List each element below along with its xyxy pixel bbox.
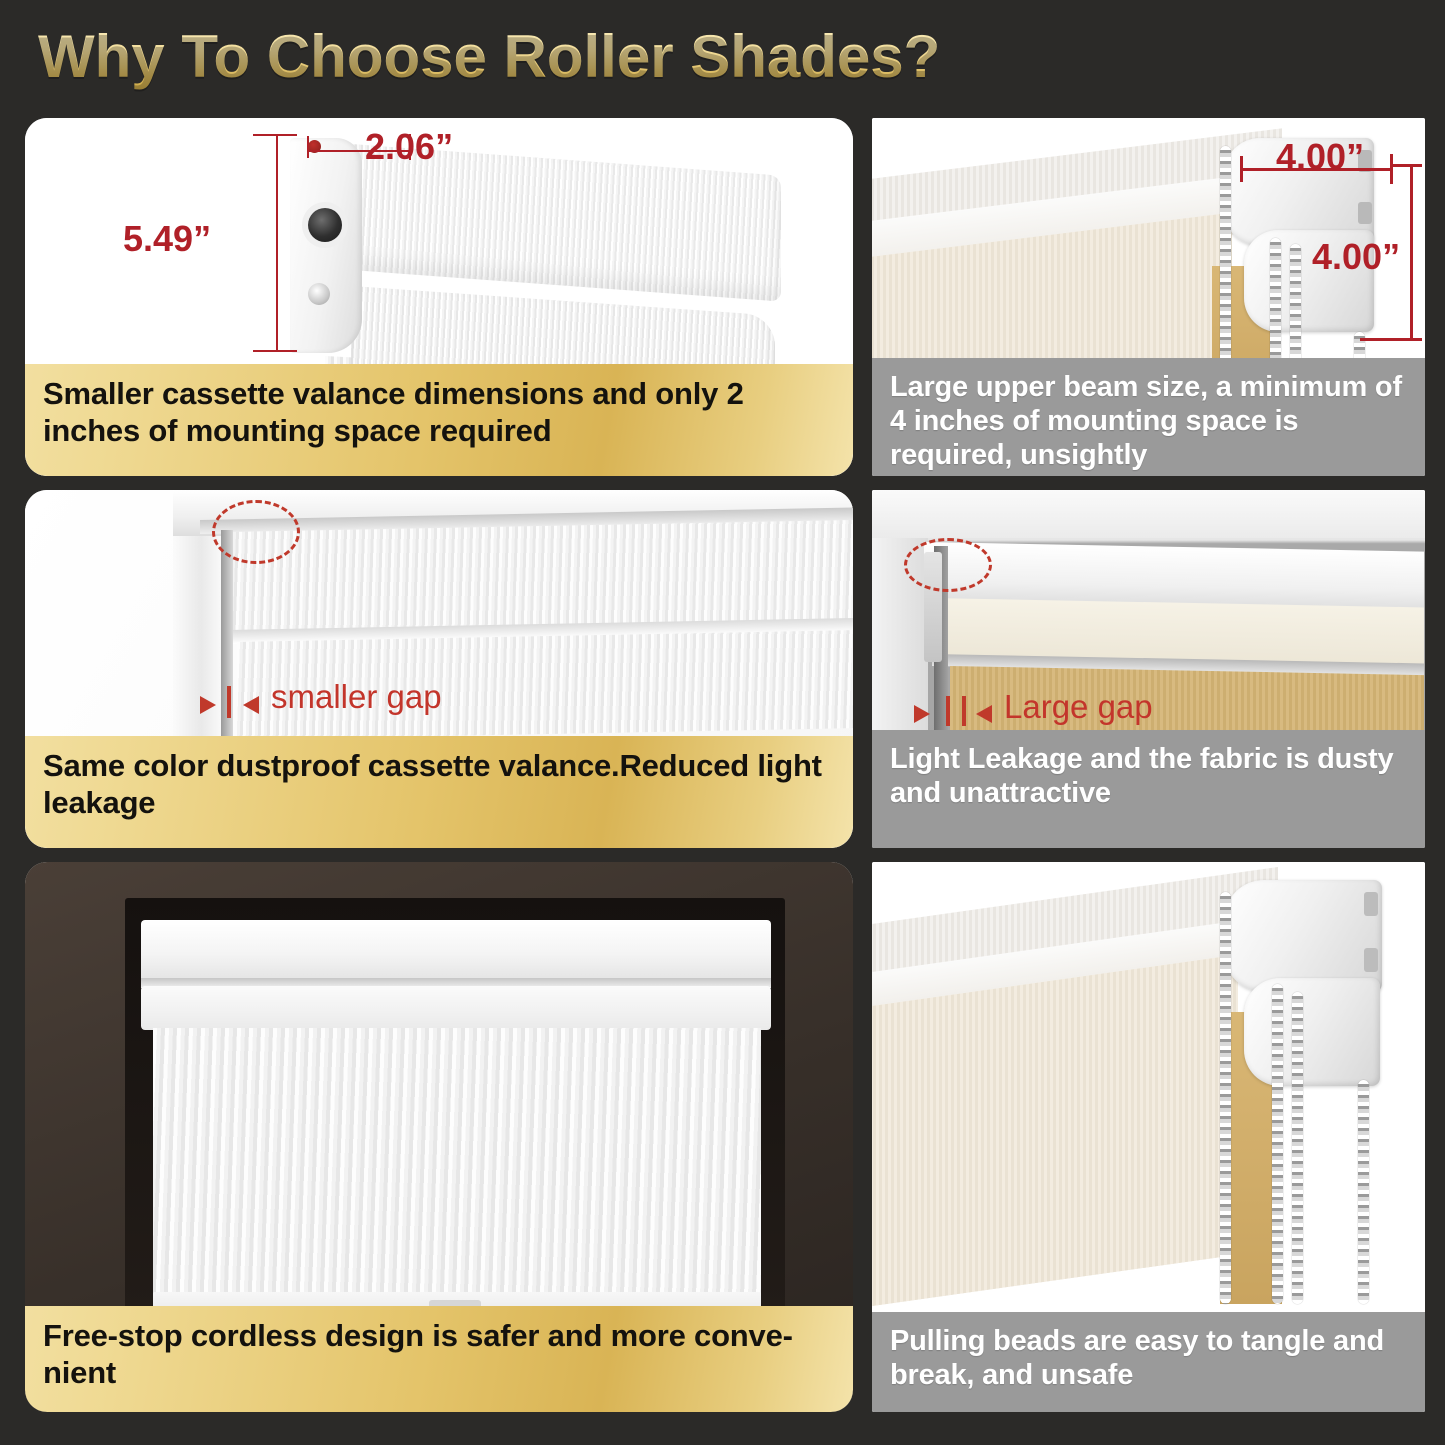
bead-chain-2	[1272, 984, 1283, 1304]
panel-cassette-dimensions: 2.06” 5.49” Smaller cassette valance dim…	[25, 118, 853, 476]
dimension-label-width: 2.06”	[365, 126, 453, 168]
dim-tick-top	[253, 134, 297, 136]
comparison-grid: 2.06” 5.49” Smaller cassette valance dim…	[0, 112, 1445, 1445]
wall-upper	[872, 490, 1425, 538]
dim-tick-left	[1240, 156, 1243, 182]
panel-pulling-beads: Pulling beads are easy to tangle and bre…	[872, 862, 1425, 1412]
gap-marker-2	[962, 696, 966, 726]
bracket-slot-bottom	[1358, 202, 1372, 224]
dim-tick-bottom	[253, 350, 297, 352]
gap-marker	[227, 686, 231, 718]
bead-chain-1	[1220, 892, 1231, 1304]
panel-caption: Large upper beam size, a minimum of 4 in…	[872, 358, 1425, 476]
panel-caption: Smaller cassette valance dimensions and …	[25, 364, 853, 476]
panel-caption: Light Leakage and the fabric is dusty an…	[872, 730, 1425, 848]
cassette-valance	[141, 920, 771, 982]
dim-line-height	[1410, 164, 1413, 340]
panel-caption: Same color dustproof cassette valance.Re…	[25, 736, 853, 848]
panel-caption: Free-stop cordless design is safer and m…	[25, 1306, 853, 1412]
valance-lower-lip	[141, 986, 771, 1030]
panel-caption: Pulling beads are easy to tangle and bre…	[872, 1312, 1425, 1412]
roller-bracket-lower	[1244, 978, 1380, 1086]
bracket-slot-bottom	[1364, 948, 1378, 972]
dim-tick-right	[1390, 154, 1393, 184]
gap-arrow-left-icon	[243, 696, 259, 714]
dim-tick-top	[1390, 164, 1422, 167]
dim-tick-left	[307, 136, 309, 158]
shade-fabric	[153, 1028, 761, 1296]
roller-fabric-lower	[872, 955, 1238, 1308]
bead-chain-3	[1292, 992, 1303, 1304]
valance-end-cap	[290, 138, 362, 353]
bead-chain-4	[1358, 1080, 1369, 1304]
roller-bracket-upper	[1224, 880, 1382, 992]
page-title: Why To Choose Roller Shades?	[38, 22, 940, 91]
panel-cordless-design: Free-stop cordless design is safer and m…	[25, 862, 853, 1412]
gap-arrow-left-icon	[976, 705, 992, 723]
highlight-circle-icon	[212, 500, 300, 564]
panel-large-upper-beam: 4.00” 4.00” Large upper beam size, a min…	[872, 118, 1425, 476]
dimension-label-height: 4.00”	[1312, 236, 1400, 278]
dim-line-height	[276, 134, 278, 352]
gap-annotation-label: Large gap	[1004, 688, 1153, 726]
gap-arrow-right-icon	[914, 705, 930, 723]
panel-dustproof-valance: smaller gap Same color dustproof cassett…	[25, 490, 853, 848]
gap-annotation-label: smaller gap	[271, 678, 442, 716]
page-header: Why To Choose Roller Shades?	[0, 0, 1445, 112]
highlight-circle-icon	[904, 538, 992, 592]
dimension-label-width: 4.00”	[1276, 136, 1364, 178]
gap-arrow-right-icon	[200, 696, 216, 714]
dimension-label-height: 5.49”	[123, 218, 211, 260]
panel-light-leakage: Large gap Light Leakage and the fabric i…	[872, 490, 1425, 848]
bracket-slot-top	[1364, 892, 1378, 916]
dim-tick-bottom	[1360, 338, 1422, 341]
screw-icon	[308, 283, 330, 305]
gap-marker-1	[946, 696, 950, 726]
